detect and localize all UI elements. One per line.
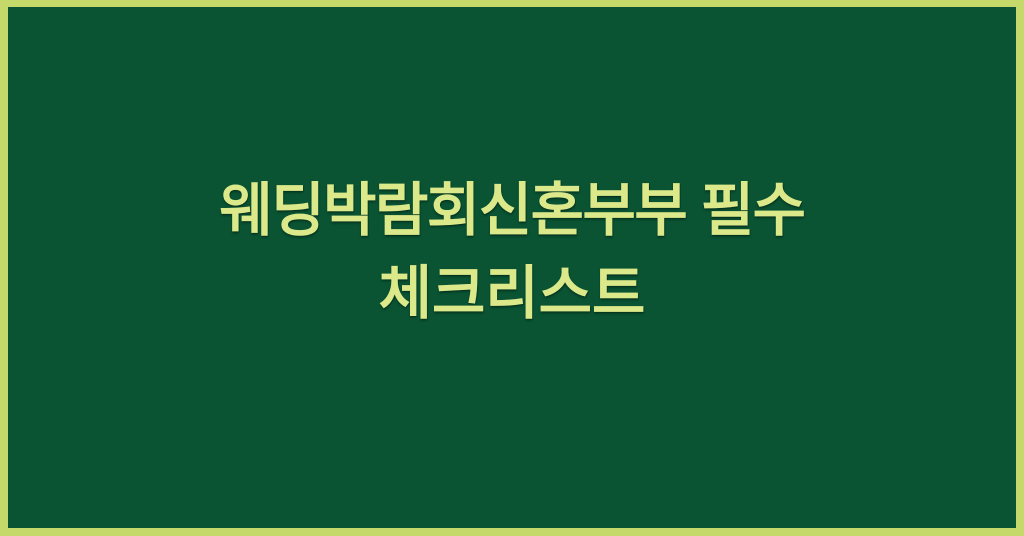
- banner-frame: 웨딩박람회신혼부부 필수 체크리스트: [0, 0, 1024, 536]
- banner-title-line-2: 체크리스트: [8, 253, 1016, 335]
- banner-card: 웨딩박람회신혼부부 필수 체크리스트: [8, 7, 1016, 528]
- banner-title-line-1: 웨딩박람회신혼부부 필수: [8, 170, 1016, 252]
- banner-title-block: 웨딩박람회신혼부부 필수 체크리스트: [8, 170, 1016, 365]
